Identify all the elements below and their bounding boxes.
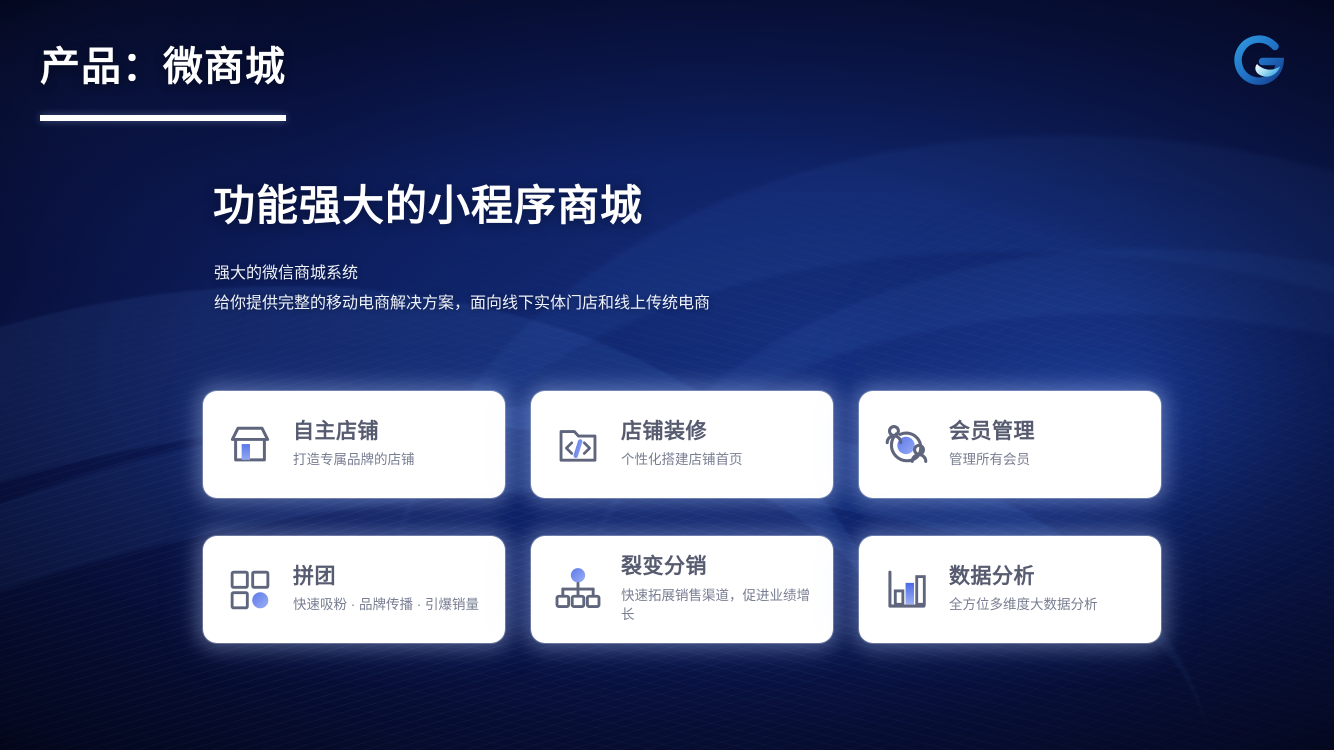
hero-subtitle-line-2: 给你提供完整的移动电商解决方案，面向线下实体门店和线上传统电商 bbox=[214, 289, 710, 319]
feature-card-group-buy[interactable]: 拼团 快速吸粉 · 品牌传播 · 引爆销量 bbox=[203, 536, 505, 643]
hero-subtitle: 强大的微信商城系统 给你提供完整的移动电商解决方案，面向线下实体门店和线上传统电… bbox=[214, 259, 710, 319]
feature-card-desc: 快速吸粉 · 品牌传播 · 引爆销量 bbox=[293, 595, 479, 615]
feature-card-title: 自主店铺 bbox=[293, 419, 415, 445]
feature-card-own-store[interactable]: 自主店铺 打造专属品牌的店铺 bbox=[203, 391, 505, 498]
feature-card-text: 会员管理 管理所有会员 bbox=[949, 419, 1035, 470]
hero-subtitle-line-1: 强大的微信商城系统 bbox=[214, 259, 710, 289]
feature-card-desc: 个性化搭建店铺首页 bbox=[621, 450, 743, 470]
feature-card-text: 自主店铺 打造专属品牌的店铺 bbox=[293, 419, 415, 470]
folder-code-icon bbox=[549, 416, 607, 474]
feature-card-fission-distribution[interactable]: 裂变分销 快速拓展销售渠道，促进业绩增长 bbox=[531, 536, 833, 643]
feature-card-title: 数据分析 bbox=[949, 564, 1098, 590]
g-wave-logo bbox=[1228, 28, 1292, 92]
feature-card-title: 拼团 bbox=[293, 564, 479, 590]
feature-card-text: 数据分析 全方位多维度大数据分析 bbox=[949, 564, 1098, 615]
slide-root: 产品：微商城 功能强大的小程序商城 强大的微信商城系统 给你提供完 bbox=[0, 0, 1334, 750]
feature-card-desc: 全方位多维度大数据分析 bbox=[949, 595, 1098, 615]
storefront-icon bbox=[221, 416, 279, 474]
feature-card-member-management[interactable]: 会员管理 管理所有会员 bbox=[859, 391, 1161, 498]
feature-card-grid: 自主店铺 打造专属品牌的店铺 bbox=[203, 391, 1165, 643]
feature-card-desc: 快速拓展销售渠道，促进业绩增长 bbox=[621, 586, 819, 625]
hero-title: 功能强大的小程序商城 bbox=[213, 172, 643, 233]
kicker-underline-rule bbox=[40, 115, 286, 121]
org-chart-icon bbox=[549, 561, 607, 619]
page-kicker: 产品：微商城 bbox=[40, 34, 286, 92]
feature-card-desc: 打造专属品牌的店铺 bbox=[293, 450, 415, 470]
feature-card-title: 会员管理 bbox=[949, 419, 1035, 445]
feature-card-text: 店铺装修 个性化搭建店铺首页 bbox=[621, 419, 743, 470]
members-icon bbox=[877, 416, 935, 474]
feature-card-data-analysis[interactable]: 数据分析 全方位多维度大数据分析 bbox=[859, 536, 1161, 643]
feature-card-text: 拼团 快速吸粉 · 品牌传播 · 引爆销量 bbox=[293, 564, 479, 615]
feature-card-title: 店铺装修 bbox=[621, 419, 743, 445]
grid-group-buy-icon bbox=[221, 561, 279, 619]
bar-chart-icon bbox=[877, 561, 935, 619]
feature-card-title: 裂变分销 bbox=[621, 554, 819, 580]
feature-card-desc: 管理所有会员 bbox=[949, 450, 1035, 470]
feature-card-text: 裂变分销 快速拓展销售渠道，促进业绩增长 bbox=[621, 554, 819, 624]
feature-card-store-decoration[interactable]: 店铺装修 个性化搭建店铺首页 bbox=[531, 391, 833, 498]
